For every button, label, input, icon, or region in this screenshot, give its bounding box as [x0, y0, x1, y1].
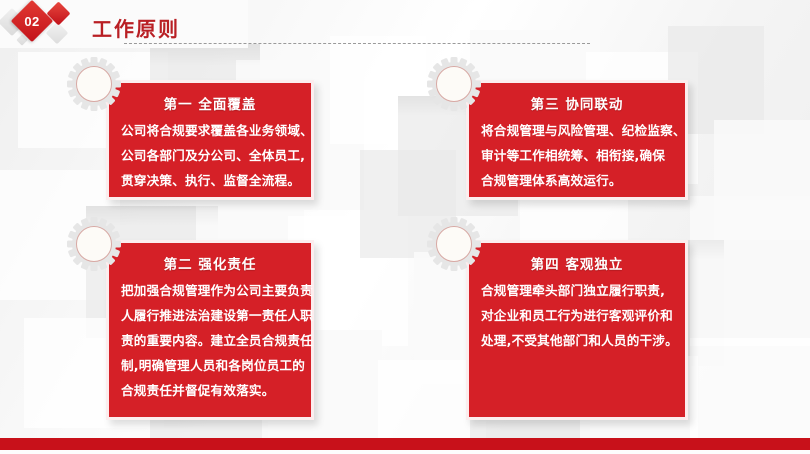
gear-icon [66, 216, 122, 272]
header-divider [124, 43, 590, 44]
card-body-line: 合规管理牵头部门独立履行职责, [481, 278, 673, 303]
card-body-line: 公司将合规要求覆盖各业务领域、 [121, 118, 299, 143]
card-body-line: 对企业和员工行为进行客观评价和 [481, 303, 673, 328]
card-body-line: 把加强合规管理作为公司主要负责 [121, 278, 299, 303]
card-body: 把加强合规管理作为公司主要负责 人履行推进法治建设第一责任人职 责的重要内容。建… [121, 278, 299, 403]
card-body-line: 贯穿决策、执行、监督全流程。 [121, 168, 299, 193]
card-body: 合规管理牵头部门独立履行职责, 对企业和员工行为进行客观评价和 处理,不受其他部… [481, 278, 673, 353]
card-body: 公司将合规要求覆盖各业务领域、 公司各部门及分公司、全体员工, 贯穿决策、执行、… [121, 118, 299, 193]
card-body-line: 责的重要内容。建立全员合规责任 [121, 328, 299, 353]
slide-header: 02 工作原则 [0, 0, 810, 52]
card-body-line: 合规责任并督促有效落实。 [121, 378, 299, 403]
card-body-line: 人履行推进法治建设第一责任人职 [121, 303, 299, 328]
section-number-label: 02 [17, 6, 47, 36]
bottom-accent-bar [0, 438, 810, 450]
principle-card-1[interactable]: 第一 全面覆盖 公司将合规要求覆盖各业务领域、 公司各部门及分公司、全体员工, … [106, 80, 314, 200]
card-body-line: 审计等工作相统筹、相衔接,确保 [481, 143, 673, 168]
gear-icon [66, 56, 122, 112]
gear-icon [426, 56, 482, 112]
card-title: 第四 客观独立 [481, 253, 673, 273]
principle-card-4[interactable]: 第四 客观独立 合规管理牵头部门独立履行职责, 对企业和员工行为进行客观评价和 … [466, 240, 688, 420]
card-body-line: 合规管理体系高效运行。 [481, 168, 673, 193]
card-body-line: 将合规管理与风险管理、纪检监察、 [481, 118, 673, 143]
card-body: 将合规管理与风险管理、纪检监察、 审计等工作相统筹、相衔接,确保 合规管理体系高… [481, 118, 673, 193]
page-title: 工作原则 [92, 13, 180, 42]
principle-card-3[interactable]: 第三 协同联动 将合规管理与风险管理、纪检监察、 审计等工作相统筹、相衔接,确保… [466, 80, 688, 200]
card-body-line: 处理,不受其他部门和人员的干涉。 [481, 328, 673, 353]
card-body-line: 公司各部门及分公司、全体员工, [121, 143, 299, 168]
gear-icon [426, 216, 482, 272]
card-title: 第三 协同联动 [481, 93, 673, 113]
card-title: 第二 强化责任 [121, 253, 299, 273]
card-body-line: 制,明确管理人员和各岗位员工的 [121, 353, 299, 378]
card-title: 第一 全面覆盖 [121, 93, 299, 113]
principle-card-2[interactable]: 第二 强化责任 把加强合规管理作为公司主要负责 人履行推进法治建设第一责任人职 … [106, 240, 314, 420]
slide-canvas: 02 工作原则 第一 全面覆盖 公司将合规要求覆盖各业务领域、 公司各部门及分公… [0, 0, 810, 454]
bottom-white-strip [0, 450, 810, 454]
